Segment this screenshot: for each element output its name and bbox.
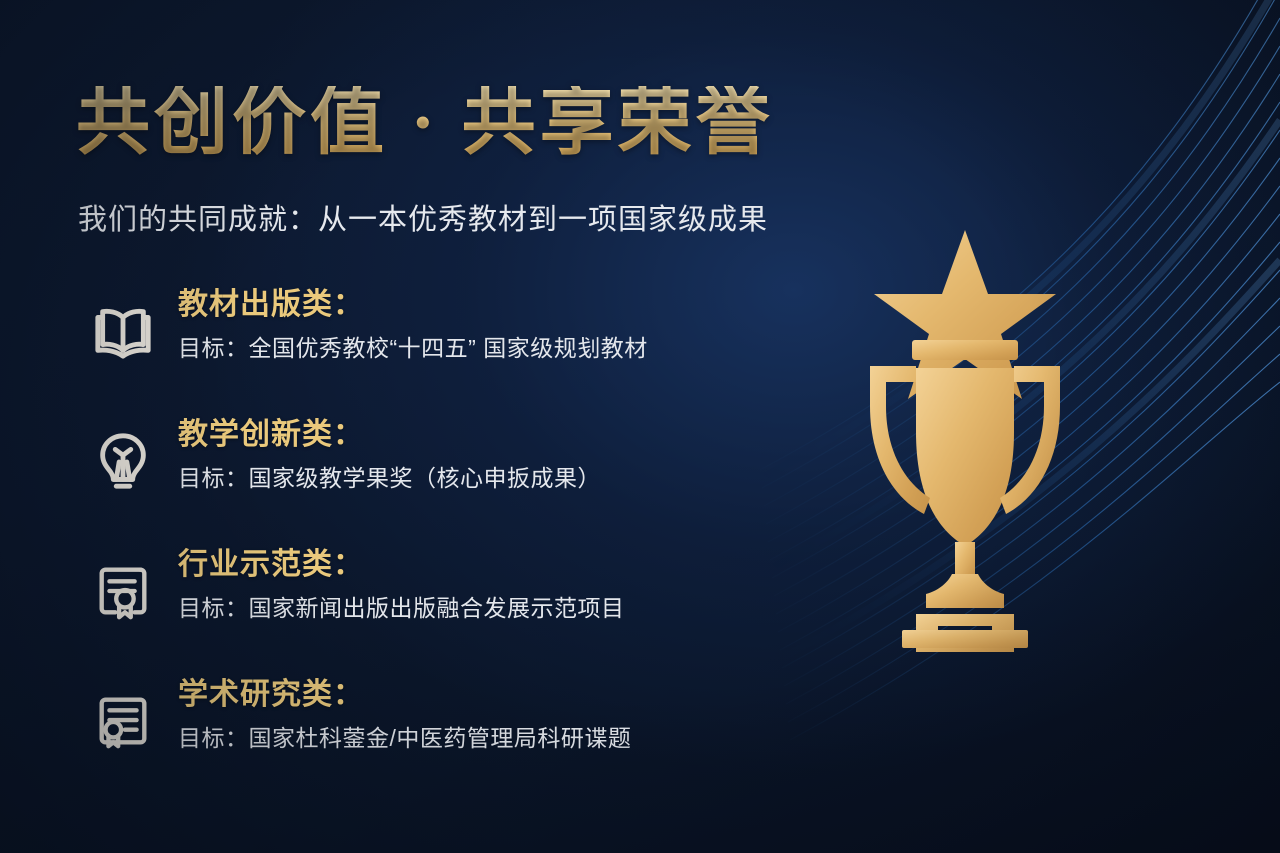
item-heading: 行业示范类： [178,548,840,583]
lightbulb-icon [86,424,160,498]
trophy-illustration [840,222,1090,652]
list-item: 教材出版类： 目标：全国优秀教校“十四五” 国家级规刬教材 [80,288,840,400]
list-item: 行业示范类： 目标：国家新闻出版出版融合发展示范项目 [80,548,840,660]
item-detail: 目标：国家杜科蓥金/中医药管理局科研谍题 [178,725,840,753]
open-book-icon [86,294,160,368]
item-detail: 目标：国家级教学果奖（核心申扳成果） [178,465,840,493]
certificate-seal-icon [86,554,160,628]
trophy-icon [840,222,1090,652]
page-subtitle: 我们的共同成就：从一本优秀教材到一项国家级成果 [78,196,768,238]
item-heading: 教材出版类： [178,288,840,323]
item-heading: 教学创新类： [178,418,840,453]
list-item: 教学创新类： 目标：国家级教学果奖（核心申扳成果） [80,418,840,530]
slide-canvas: 共创价值 · 共享荣誉 我们的共同成就：从一本优秀教材到一项国家级成果 教材出版… [0,0,1280,853]
content-column: 共创价值 · 共享荣誉 我们的共同成就：从一本优秀教材到一项国家级成果 教材出版… [0,0,860,853]
item-heading: 学术研究类： [178,678,840,713]
item-detail: 目标：全国优秀教校“十四五” 国家级规刬教材 [178,335,840,363]
page-title: 共创价值 · 共享荣誉 [76,86,774,160]
goal-list: 教材出版类： 目标：全国优秀教校“十四五” 国家级规刬教材 [80,288,840,808]
document-seal-icon [86,684,160,758]
list-item: 学术研究类： 目标：国家杜科蓥金/中医药管理局科研谍题 [80,678,840,790]
item-detail: 目标：国家新闻出版出版融合发展示范项目 [178,595,840,623]
